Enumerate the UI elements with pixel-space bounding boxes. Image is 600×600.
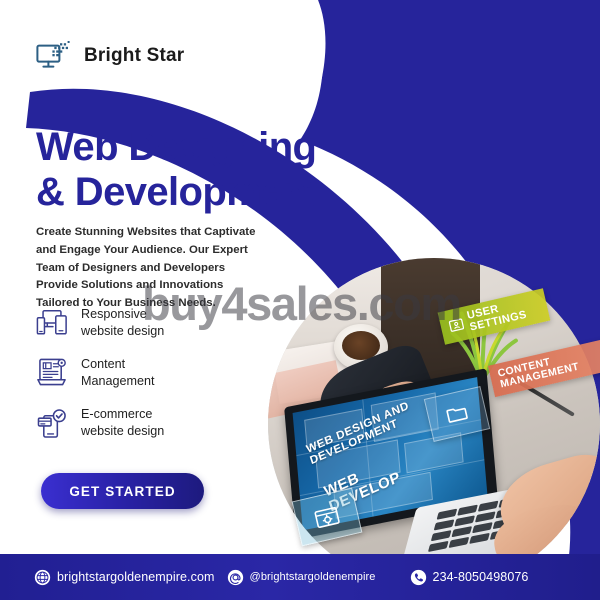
feature-item-content-management: Content Management (36, 356, 164, 389)
get-started-button[interactable]: GET STARTED (41, 473, 204, 509)
feature-item-ecommerce-label: E-commerce website design (81, 406, 164, 439)
monitor-pixels-icon (36, 40, 72, 72)
contact-footer: brightstargoldenempire.com @brightstargo… (0, 554, 600, 600)
footer-handle[interactable]: @brightstargoldenempire (227, 569, 376, 586)
content-management-icon (36, 357, 68, 389)
globe-icon (34, 569, 51, 586)
footer-website[interactable]: brightstargoldenempire.com (34, 569, 215, 586)
feature-item-responsive: Responsive website design (36, 306, 164, 339)
footer-website-text: brightstargoldenempire.com (57, 570, 215, 584)
user-icon (447, 316, 465, 334)
feature-list: Responsive website design Content Manage… (36, 306, 164, 440)
body-copy: Create Stunning Websites that Captivate … (36, 224, 280, 312)
footer-handle-text: @brightstargoldenempire (250, 571, 376, 583)
settings-window-icon (313, 505, 341, 529)
feature-item-content-management-label: Content Management (81, 356, 155, 389)
ecommerce-mobile-icon (36, 407, 68, 439)
phone-icon (410, 569, 427, 586)
brand-name: Bright Star (84, 45, 184, 67)
at-icon (227, 569, 244, 586)
folder-plain-icon (444, 403, 469, 425)
page-title: Web Designing & Development (36, 125, 366, 215)
promo-poster: WEB DESIGN AND DEVELOPMENT WEB DEVELOP (0, 0, 600, 600)
feature-item-ecommerce: E-commerce website design (36, 406, 164, 439)
footer-phone[interactable]: 234-8050498076 (410, 569, 529, 586)
responsive-devices-icon (36, 307, 68, 339)
footer-phone-text: 234-8050498076 (433, 570, 529, 584)
brand-logo[interactable]: Bright Star (36, 40, 184, 72)
feature-item-responsive-label: Responsive website design (81, 306, 164, 339)
